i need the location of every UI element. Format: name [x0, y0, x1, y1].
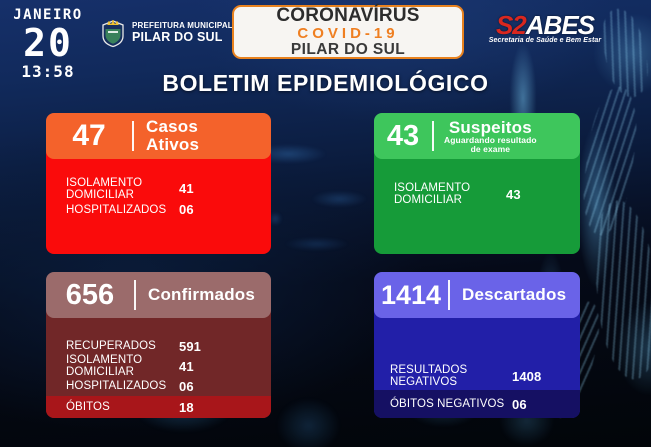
card-title2: Ativos [146, 136, 199, 154]
table-row: ISOLAMENTO DOMICILIAR 43 [374, 182, 580, 206]
divider [448, 280, 450, 310]
card-row-list: RECUPERADOS 591 ISOLAMENTO DOMICILIAR 41… [46, 336, 271, 418]
coronavirus-title-box: CORONAVÍRUS COVID-19 PILAR DO SUL [232, 5, 464, 59]
table-row: ISOLAMENTO DOMICILIAR 41 [46, 356, 271, 376]
title-covid19: COVID-19 [297, 26, 398, 42]
row-value: 06 [512, 397, 580, 412]
row-value: 41 [179, 181, 271, 196]
card-header: 1414 Descartados [374, 272, 580, 318]
card-row-list: ISOLAMENTO DOMICILIAR 41 HOSPITALIZADOS … [46, 178, 271, 220]
bulletin-canvas: JANEIRO 20 13:58 PREFEITURA MUNICIPAL PI… [0, 0, 651, 447]
card-title: Descartados [462, 286, 566, 303]
table-row: RESULTADOS NEGATIVOS 1408 [374, 362, 580, 390]
row-label: ISOLAMENTO DOMICILIAR [46, 354, 179, 378]
table-row: ISOLAMENTO DOMICILIAR 41 [46, 178, 271, 199]
virus-strand-icon [577, 84, 643, 239]
title-coronavirus: CORONAVÍRUS [276, 6, 419, 26]
prefeitura-line2: PILAR DO SUL [132, 31, 233, 44]
virus-strand-icon [588, 197, 651, 382]
table-row-obitos-negativos: ÓBITOS NEGATIVOS 06 [374, 390, 580, 418]
card-title: Confirmados [148, 286, 255, 303]
table-row-obitos: ÓBITOS 18 [46, 396, 271, 418]
row-value: 06 [179, 379, 271, 394]
date-month: JANEIRO [0, 8, 96, 22]
row-label: RESULTADOS NEGATIVOS [374, 364, 512, 388]
card-confirmados: RECUPERADOS 591 ISOLAMENTO DOMICILIAR 41… [46, 272, 271, 418]
divider [132, 121, 134, 151]
row-value: 18 [179, 400, 271, 415]
row-label: ÓBITOS [46, 401, 179, 413]
table-row: RECUPERADOS 591 [46, 336, 271, 356]
abes-wordmark: S2ABES [480, 12, 610, 38]
date-day: 20 [0, 24, 96, 62]
card-row-list: ISOLAMENTO DOMICILIAR 43 [374, 182, 580, 206]
card-count: 656 [46, 281, 134, 310]
row-label: ISOLAMENTO DOMICILIAR [46, 177, 179, 201]
divider [134, 280, 136, 310]
row-value: 06 [179, 202, 271, 217]
card-count: 47 [46, 121, 132, 151]
card-header: 47 Casos Ativos [46, 113, 271, 159]
card-count: 43 [374, 122, 432, 151]
row-label: RECUPERADOS [46, 340, 179, 352]
coat-of-arms-icon [100, 18, 126, 48]
title-city: PILAR DO SUL [291, 42, 405, 58]
card-count: 1414 [374, 282, 448, 309]
card-header: 43 Suspeitos Aguardando resultado de exa… [374, 113, 580, 159]
card-header: 656 Confirmados [46, 272, 271, 318]
row-value: 1408 [512, 369, 580, 384]
abes-mark-text: ABES [526, 10, 594, 40]
row-value: 43 [506, 187, 580, 202]
row-value: 41 [179, 359, 271, 374]
table-row: HOSPITALIZADOS 06 [46, 199, 271, 220]
divider [432, 121, 434, 151]
row-label: HOSPITALIZADOS [46, 380, 179, 392]
row-label: ÓBITOS NEGATIVOS [374, 398, 512, 410]
prefeitura-logo: PREFEITURA MUNICIPAL PILAR DO SUL [100, 18, 233, 48]
card-title: Suspeitos [444, 119, 537, 136]
row-label: HOSPITALIZADOS [46, 204, 179, 216]
card-row-list: RESULTADOS NEGATIVOS 1408 ÓBITOS NEGATIV… [374, 362, 580, 418]
abes-mark-prefix: S2 [496, 10, 526, 40]
card-casos-ativos: ISOLAMENTO DOMICILIAR 41 HOSPITALIZADOS … [46, 113, 271, 254]
page-title: BOLETIM EPIDEMIOLÓGICO [0, 70, 651, 97]
card-title: Casos [146, 118, 199, 136]
abes-subtitle: Secretaria de Saúde e Bem Estar [480, 37, 610, 44]
row-label: ISOLAMENTO DOMICILIAR [374, 182, 506, 206]
abes-logo: S2ABES Secretaria de Saúde e Bem Estar [480, 12, 610, 44]
table-row: HOSPITALIZADOS 06 [46, 376, 271, 396]
card-descartados: RESULTADOS NEGATIVOS 1408 ÓBITOS NEGATIV… [374, 272, 580, 418]
card-subtitle2: de exame [444, 145, 537, 154]
row-value: 591 [179, 339, 271, 354]
card-suspeitos: ISOLAMENTO DOMICILIAR 43 43 Suspeitos Ag… [374, 113, 580, 254]
